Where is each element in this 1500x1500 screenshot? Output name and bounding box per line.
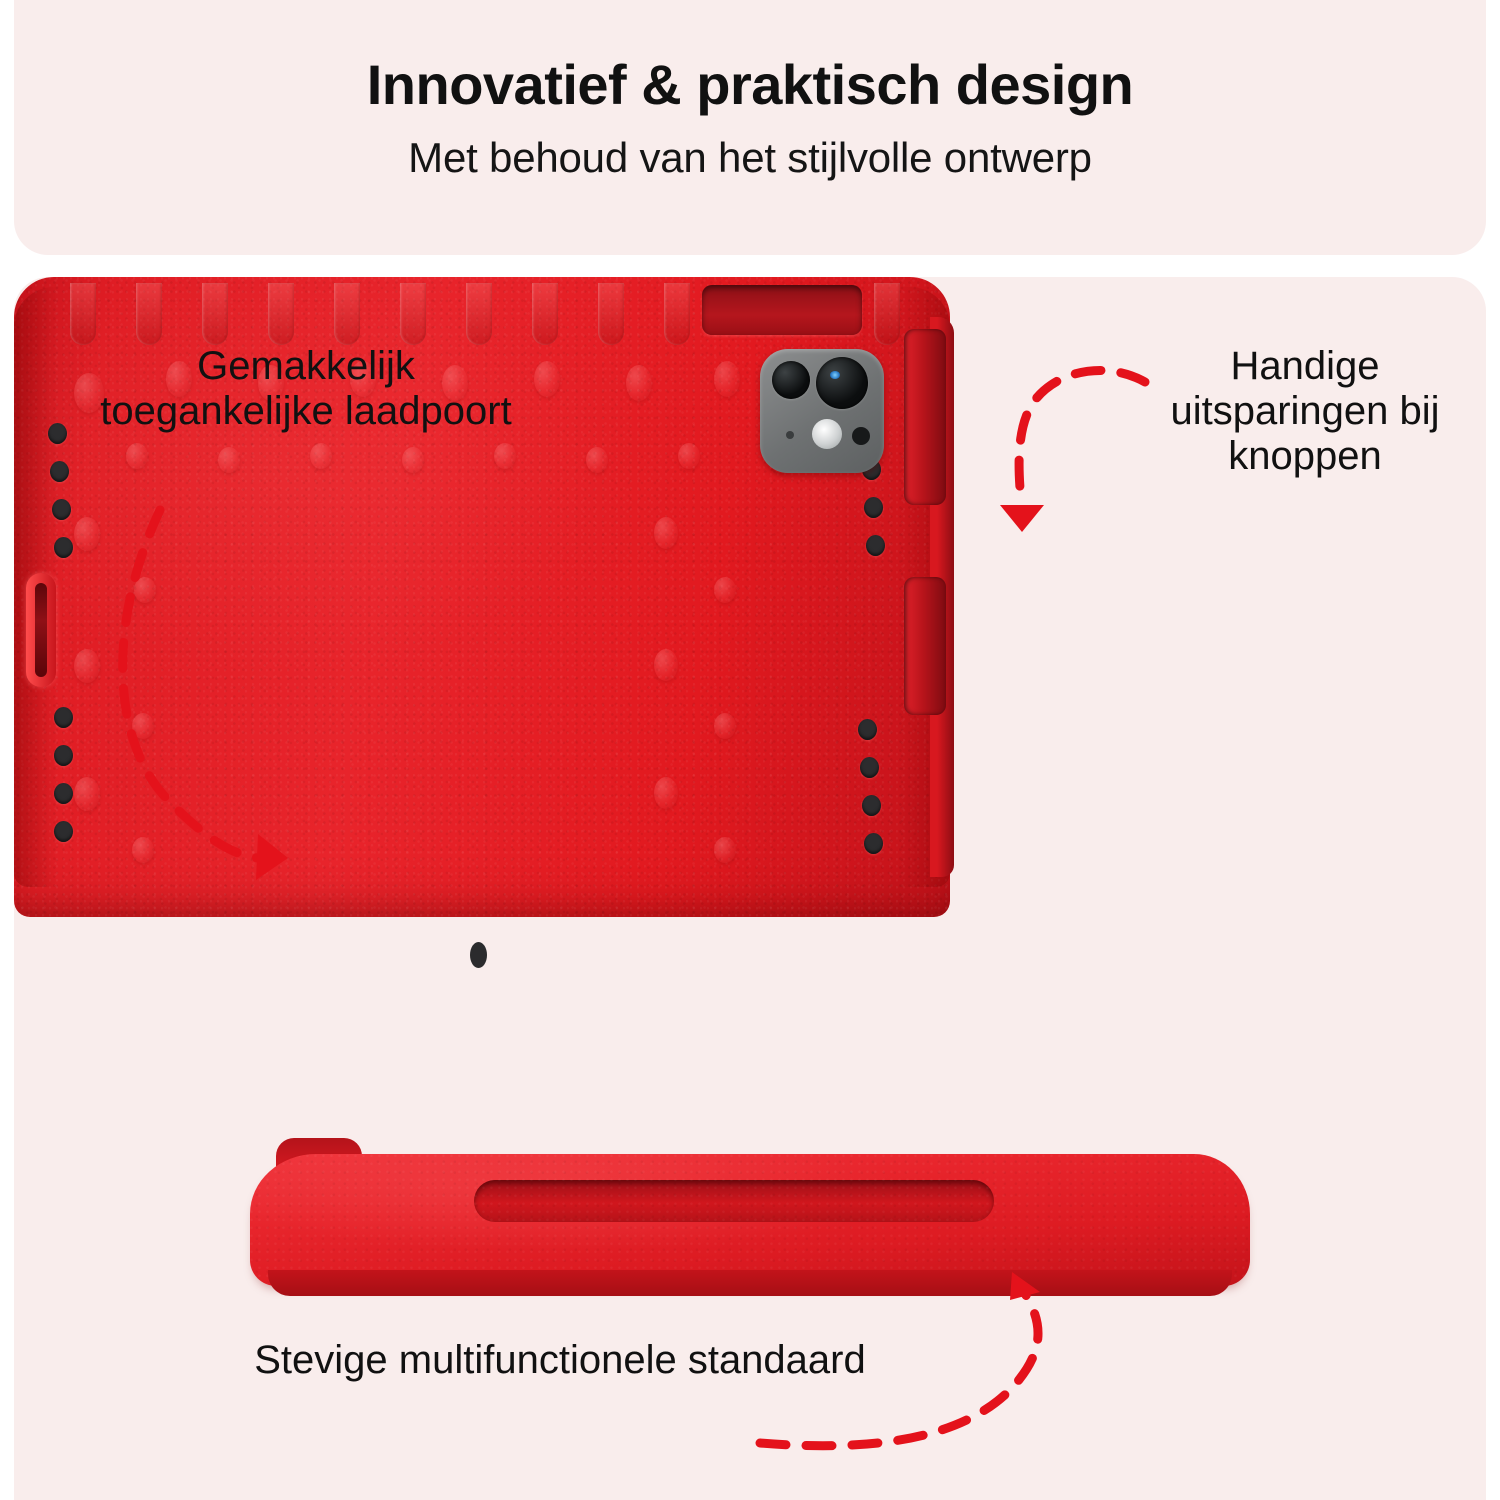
callout-label-button-cutouts: Handige uitsparingen bij knoppen	[1140, 344, 1470, 478]
side-button-cutout	[904, 577, 946, 715]
page-title: Innovatief & praktisch design	[14, 52, 1486, 117]
volume-button-cutout	[904, 329, 946, 505]
lens-flare	[830, 371, 840, 379]
callout-label-charging-port: Gemakkelijk toegankelijke laadpoort	[96, 344, 516, 434]
foldable-handle-stand	[250, 1154, 1250, 1304]
product-feature-infographic: Innovatief & praktisch design Met behoud…	[0, 0, 1500, 1500]
camera-lens-main	[816, 357, 868, 409]
header-panel: Innovatief & praktisch design Met behoud…	[14, 0, 1486, 255]
body-microphone	[470, 942, 487, 968]
stand-underside	[268, 1270, 1232, 1296]
camera-microphone-dot	[786, 431, 794, 439]
stand-bar	[250, 1154, 1250, 1286]
callout-label-stand: Stevige multifunctionele standaard	[250, 1338, 870, 1383]
camera-flash	[812, 419, 842, 449]
camera-lens-wide	[772, 361, 810, 399]
power-button-cutout	[702, 285, 862, 335]
camera-module	[760, 349, 884, 473]
page-subtitle: Met behoud van het stijlvolle ontwerp	[14, 134, 1486, 182]
camera-sensor-dot	[852, 427, 870, 445]
stand-handle-slot	[474, 1180, 994, 1222]
charging-port-cutout	[26, 573, 56, 687]
